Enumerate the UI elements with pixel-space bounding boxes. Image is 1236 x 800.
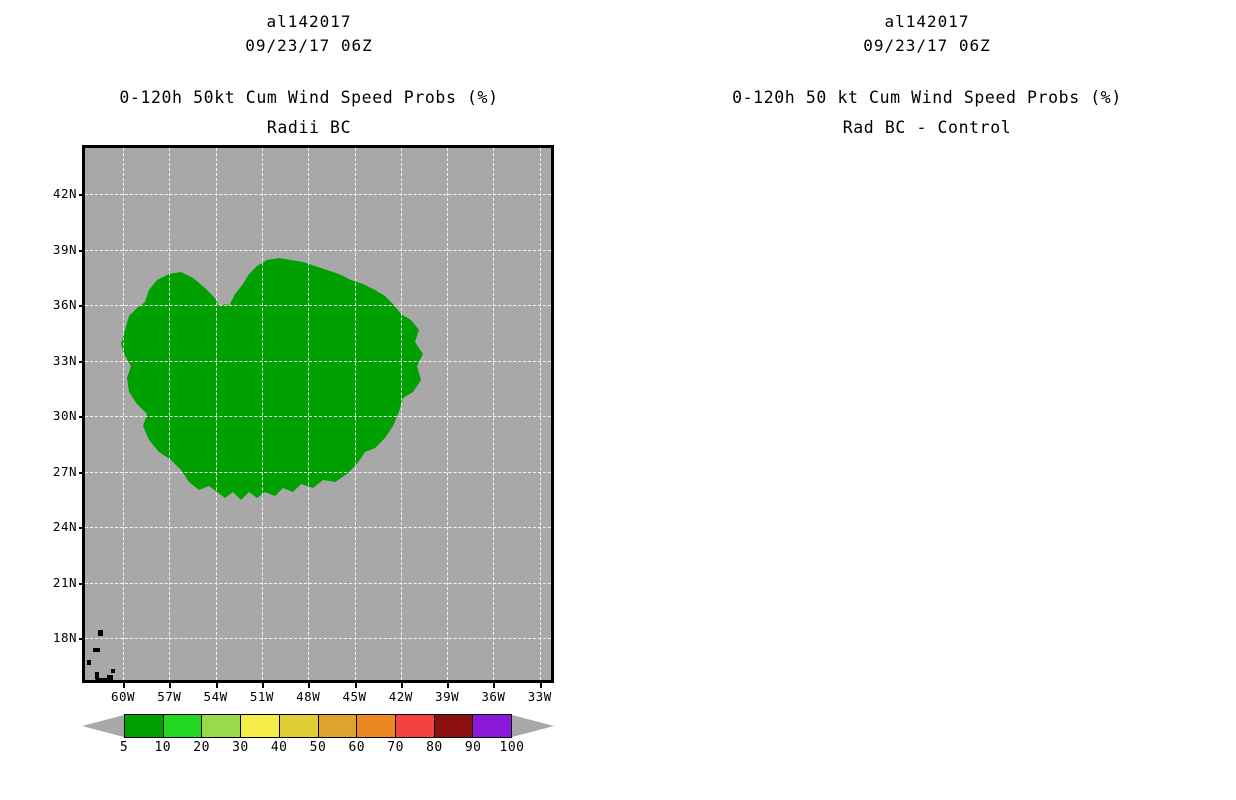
y-axis-tick-label: 42N [35, 186, 77, 201]
coastline-left [85, 148, 551, 680]
panel-right-datetime: 09/23/17 06Z [618, 36, 1236, 55]
x-axis-tick-label: 33W [517, 689, 563, 704]
x-axis-tick-mark [540, 682, 542, 688]
y-axis-tick-mark [79, 305, 85, 307]
colorbar-left-low-arrow [82, 714, 124, 738]
panel-radii-bc: al142017 09/23/17 06Z 0-120h 50kt Cum Wi… [0, 0, 618, 800]
y-axis-tick-mark [79, 416, 85, 418]
panel-right-storm-id: al142017 [618, 12, 1236, 31]
y-axis-tick-mark [79, 250, 85, 252]
panel-right-subtitle: Rad BC - Control [618, 118, 1236, 137]
panel-left-storm-id: al142017 [0, 12, 618, 31]
colorbar-tick-label: 90 [453, 740, 493, 755]
x-axis-tick-label: 39W [424, 689, 470, 704]
colorbar-tick-label: 20 [182, 740, 222, 755]
x-axis-tick-label: 57W [146, 689, 192, 704]
y-axis-tick-mark [79, 638, 85, 640]
y-axis-tick-mark [79, 583, 85, 585]
colorbar-segment [473, 715, 511, 737]
x-axis-tick-mark [401, 682, 403, 688]
colorbar-left[interactable]: 5102030405060708090100 [82, 714, 554, 738]
x-axis-tick-mark [262, 682, 264, 688]
y-axis-tick-label: 24N [35, 519, 77, 534]
x-axis-tick-label: 54W [193, 689, 239, 704]
y-axis-tick-mark [79, 361, 85, 363]
y-axis-tick-label: 27N [35, 464, 77, 479]
x-axis-tick-mark [355, 682, 357, 688]
y-axis-tick-label: 39N [35, 242, 77, 257]
colorbar-tick-label: 5 [104, 740, 144, 755]
colorbar-segment [396, 715, 435, 737]
x-axis-tick-label: 60W [100, 689, 146, 704]
colorbar-tick-label: 30 [220, 740, 260, 755]
colorbar-segment [241, 715, 280, 737]
map-plot-radii-bc[interactable] [82, 145, 554, 683]
panel-left-title: 0-120h 50kt Cum Wind Speed Probs (%) [0, 88, 618, 107]
colorbar-segment [280, 715, 319, 737]
colorbar-tick-label: 80 [414, 740, 454, 755]
y-axis-tick-label: 30N [35, 408, 77, 423]
y-axis-tick-mark [79, 194, 85, 196]
y-axis-tick-label: 21N [35, 575, 77, 590]
colorbar-segment [202, 715, 241, 737]
colorbar-segment [164, 715, 203, 737]
y-axis-tick-label: 33N [35, 353, 77, 368]
colorbar-segment [125, 715, 164, 737]
x-axis-tick-mark [169, 682, 171, 688]
panel-rad-bc-minus-control: al142017 09/23/17 06Z 0-120h 50 kt Cum W… [618, 0, 1236, 800]
panel-left-datetime: 09/23/17 06Z [0, 36, 618, 55]
colorbar-tick-label: 60 [337, 740, 377, 755]
x-axis-tick-label: 48W [285, 689, 331, 704]
panel-left-subtitle: Radii BC [0, 118, 618, 137]
colorbar-tick-label: 70 [376, 740, 416, 755]
x-axis-tick-label: 51W [239, 689, 285, 704]
y-axis-tick-mark [79, 472, 85, 474]
x-axis-tick-mark [447, 682, 449, 688]
colorbar-segment [357, 715, 396, 737]
y-axis-tick-mark [79, 527, 85, 529]
colorbar-tick-label: 100 [492, 740, 532, 755]
x-axis-tick-mark [216, 682, 218, 688]
colorbar-tick-label: 10 [143, 740, 183, 755]
x-axis-tick-label: 45W [332, 689, 378, 704]
x-axis-tick-mark [308, 682, 310, 688]
y-axis-tick-label: 36N [35, 297, 77, 312]
colorbar-left-blocks [124, 714, 512, 738]
panel-right-title: 0-120h 50 kt Cum Wind Speed Probs (%) [618, 88, 1236, 107]
colorbar-segment [319, 715, 358, 737]
y-axis-tick-label: 18N [35, 630, 77, 645]
colorbar-tick-label: 50 [298, 740, 338, 755]
x-axis-tick-mark [123, 682, 125, 688]
x-axis-tick-mark [493, 682, 495, 688]
x-axis-tick-label: 42W [378, 689, 424, 704]
colorbar-segment [435, 715, 474, 737]
colorbar-tick-label: 40 [259, 740, 299, 755]
x-axis-tick-label: 36W [470, 689, 516, 704]
colorbar-left-high-arrow [512, 714, 554, 738]
